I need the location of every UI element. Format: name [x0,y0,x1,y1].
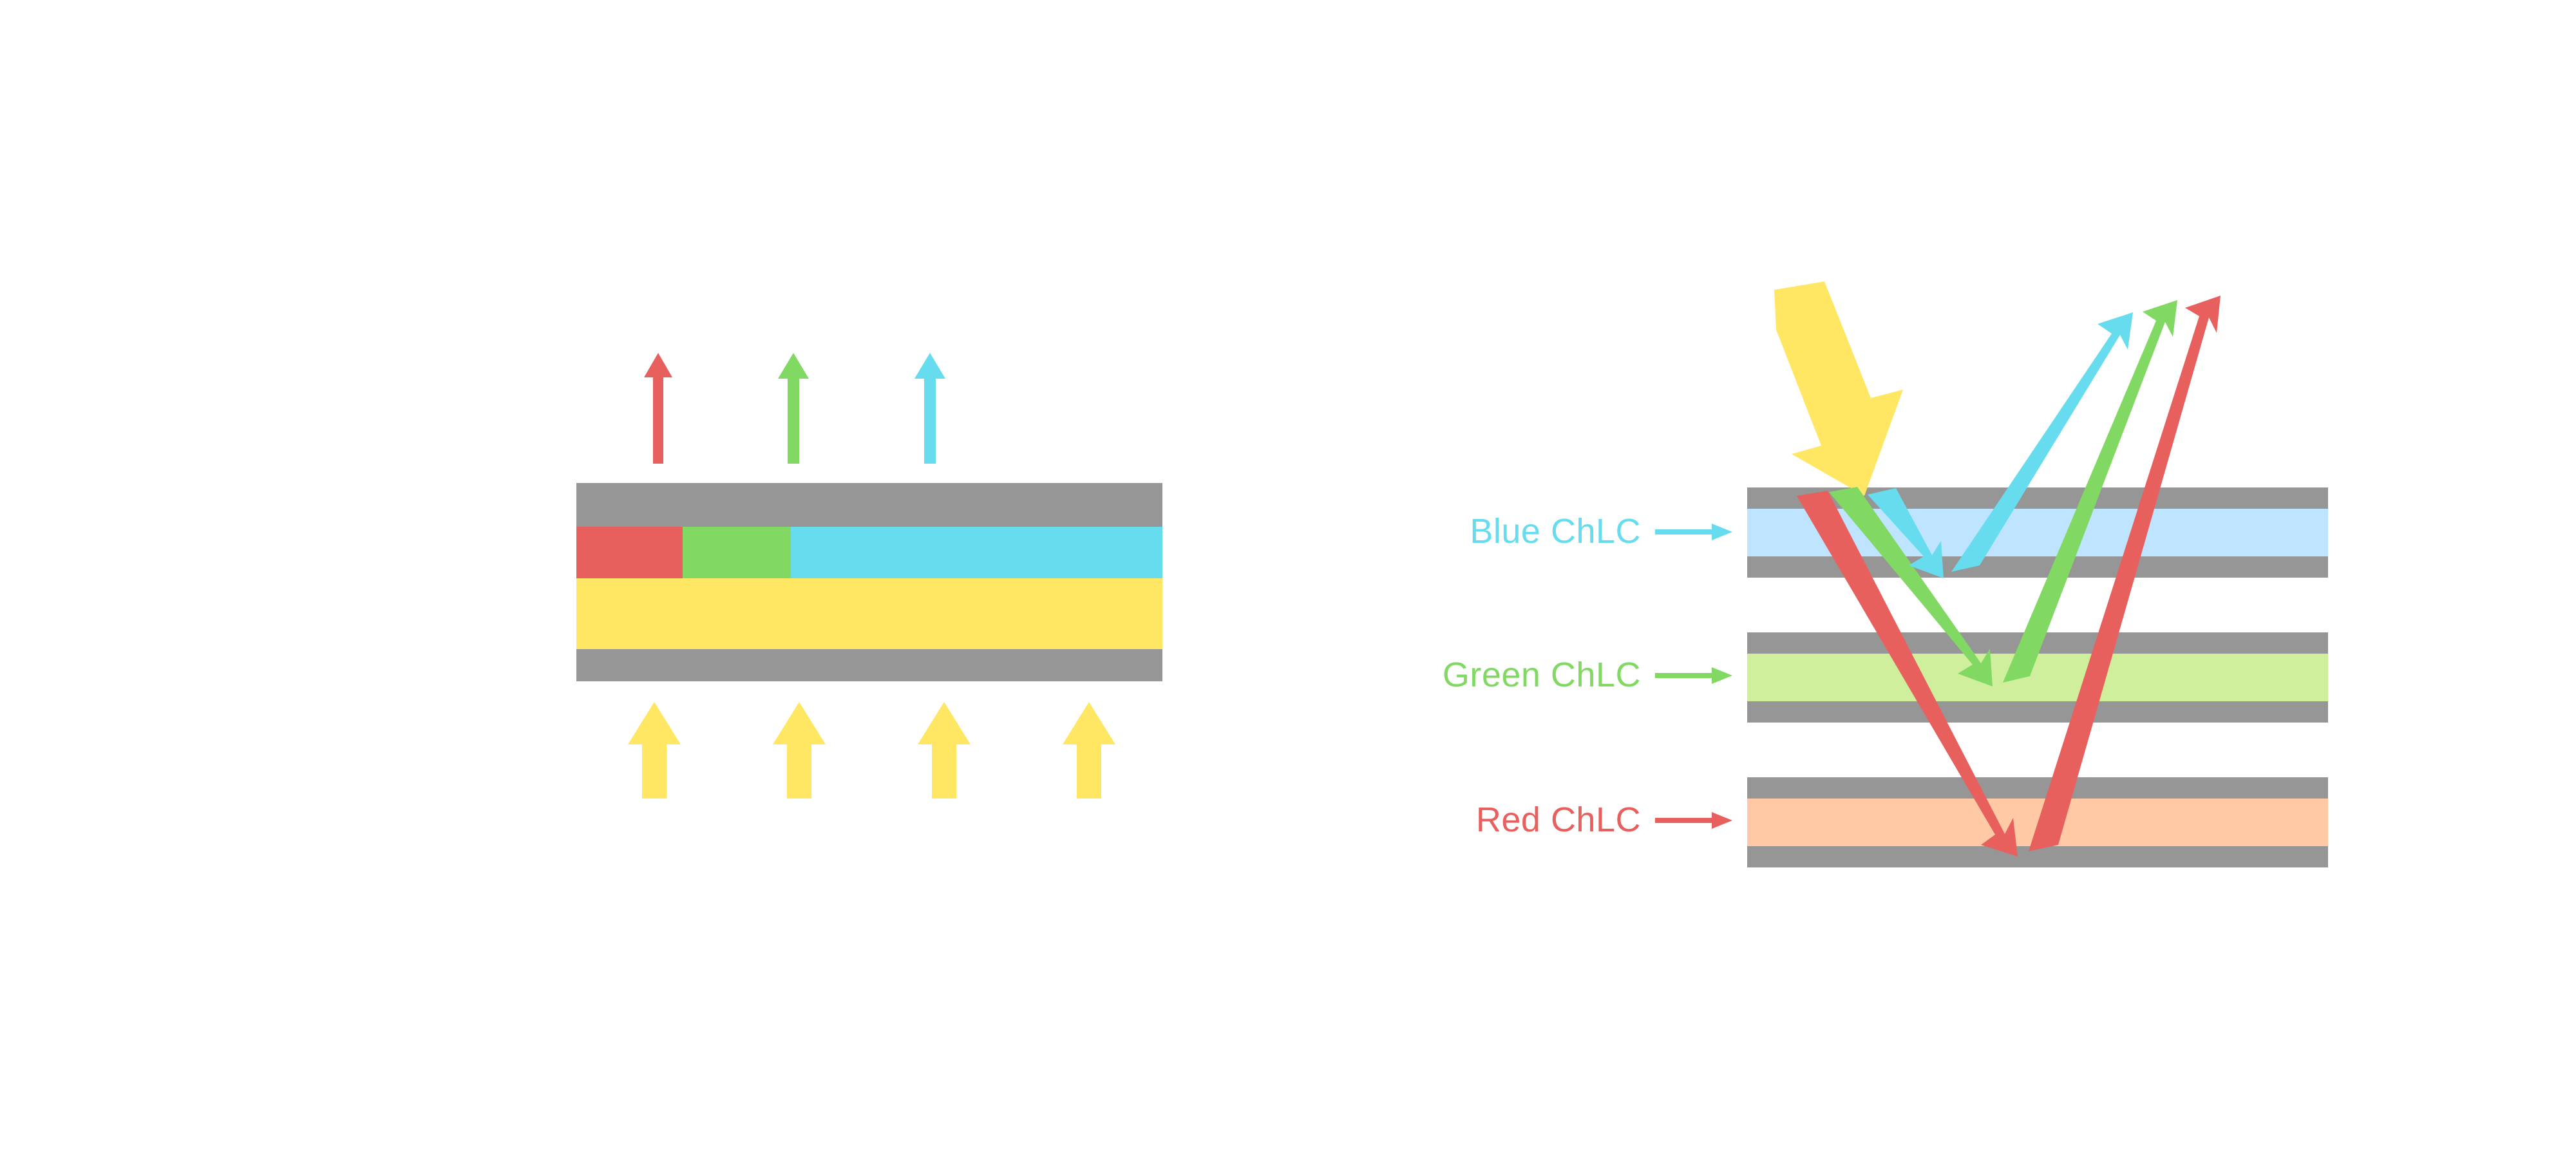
label-green-chlc: Green ChLC [1352,656,1732,694]
color-filter-green [683,527,791,578]
left-emissive-figure [0,0,1288,1154]
green-panel-bottom-electrode [1747,701,2328,723]
label-blue-chlc-arrow-icon [1655,511,1732,551]
right-reflective-figure: Blue ChLC Green ChLC Red ChLC [1288,0,2576,1154]
label-blue-chlc-text: Blue ChLC [1470,514,1641,549]
red-chlc-panel [1747,777,2328,867]
backlight-arrow-1 [628,702,681,799]
diagram-canvas: Blue ChLC Green ChLC Red ChLC [0,0,2576,1154]
green-emission-arrow [778,353,809,464]
label-red-chlc-text: Red ChLC [1476,802,1641,837]
green-chlc-core [1747,654,2328,701]
label-green-chlc-text: Green ChLC [1443,657,1641,692]
red-chlc-core [1747,799,2328,846]
green-chlc-panel [1747,632,2328,723]
green-panel-top-electrode [1747,632,2328,654]
backlight-arrow-3 [918,702,971,799]
label-blue-chlc: Blue ChLC [1352,512,1732,551]
blue-panel-top-electrode [1747,487,2328,509]
backlight-layer [576,578,1162,649]
label-red-chlc-arrow-icon [1655,800,1732,840]
backlight-arrow-4 [1063,702,1115,799]
label-green-chlc-arrow-icon [1655,655,1732,695]
color-filter-blue [791,527,1162,578]
red-panel-bottom-electrode [1747,846,2328,867]
red-emission-arrow [644,353,672,464]
label-red-chlc: Red ChLC [1352,800,1732,839]
color-filter-row [576,527,1162,578]
red-panel-top-electrode [1747,777,2328,799]
top-substrate-layer [576,483,1162,527]
chlc-panel-stack [1747,487,2328,867]
blue-chlc-panel [1747,487,2328,578]
blue-chlc-core [1747,509,2328,556]
cyan-emission-arrow [914,353,945,464]
bottom-substrate-layer [576,649,1162,681]
blue-panel-bottom-electrode [1747,556,2328,578]
ambient-light-arrow [1774,281,1903,496]
left-display-stack [576,483,1162,681]
backlight-arrow-2 [773,702,826,799]
color-filter-red [576,527,683,578]
